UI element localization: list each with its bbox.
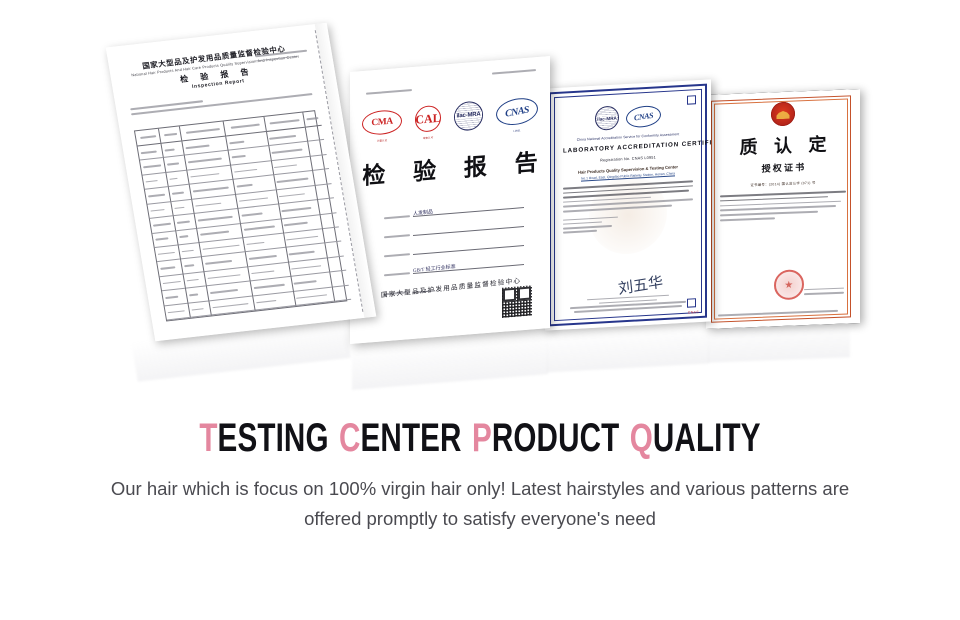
doc3-registration: Registration No. CNAS L0951	[563, 153, 693, 164]
headline-rest: ENTER	[361, 416, 462, 460]
cal-logo: CAL 审查认可	[415, 105, 441, 133]
cnas-label: CNAS	[634, 110, 654, 122]
doc4-title: 质 认 定	[734, 130, 833, 160]
doc2-title: 检 验 报 告	[350, 142, 550, 192]
ilac-mra-logo: ilac-MRA	[454, 100, 483, 131]
doc2-field-value: 人发制品	[413, 199, 524, 217]
doc4-cert-no: 证书编号：(2014) 国认监认字 (071) 号	[750, 180, 815, 188]
headline-rest: ESTING	[218, 416, 329, 460]
headline-word: TESTING	[199, 416, 328, 460]
subtitle-line-1: Our hair which is focus on 100% virgin h…	[111, 478, 849, 499]
doc2-field-row	[384, 219, 524, 238]
headline-cap: Q	[630, 416, 653, 460]
doc2-top-note	[366, 89, 412, 94]
doc4-body	[720, 191, 846, 225]
doc2-field-row	[384, 238, 524, 257]
headline-word: PRODUCT	[472, 416, 619, 460]
headline-word: CENTER	[339, 416, 462, 460]
qr-code	[502, 285, 532, 317]
page-title: TESTINGCENTERPRODUCTQUALITY	[125, 416, 835, 460]
ilac-mra-label: ilac-MRA	[455, 111, 481, 119]
doc2-logo-row: CMA 计量认证 CAL 审查认可 ilac-MRA CNAS L0951	[362, 91, 538, 143]
headline-rest: RODUCT	[492, 416, 619, 460]
headline-cap: P	[472, 416, 492, 460]
cal-caption: 审查认可	[423, 135, 433, 140]
doc2-field-row: GB/T 轻工行业标准	[384, 257, 524, 276]
doc1-table	[134, 110, 347, 321]
cma-caption: 计量认证	[377, 138, 387, 143]
page-subtitle: Our hair which is focus on 100% virgin h…	[30, 474, 930, 534]
doc3-serial: CNAS	[688, 310, 699, 315]
certificate-quality-authorization[interactable]: 质 认 定 授权证书 证书编号：(2014) 国认监认字 (071) 号	[706, 89, 860, 329]
doc2-report-no	[492, 69, 536, 74]
cma-label: CMA	[371, 117, 392, 129]
ilac-mra-label: ilac-MRA	[597, 115, 618, 121]
certificate-banner: 质 认 定 授权证书 证书编号：(2014) 国认监认字 (071) 号	[0, 0, 960, 620]
cal-label: CAL	[415, 110, 440, 127]
doc2-field-value: GB/T 轻工行业标准	[413, 256, 524, 274]
headline-cap: C	[339, 416, 361, 460]
headline-word: QUALITY	[630, 416, 761, 460]
doc3-body	[563, 180, 693, 212]
certificates-stage: 质 认 定 授权证书 证书编号：(2014) 国认监认字 (071) 号	[0, 0, 960, 400]
doc3-issue-info	[563, 212, 693, 233]
cnas-caption: L0951	[513, 129, 520, 133]
doc4-paper: 质 认 定 授权证书 证书编号：(2014) 国认监认字 (071) 号	[706, 89, 860, 329]
doc3-title: LABORATORY ACCREDITATION CERTIFICATE	[563, 140, 693, 154]
doc4-subtitle: 授权证书	[760, 160, 807, 175]
national-emblem-icon	[771, 102, 795, 127]
reflection-doc3	[547, 323, 709, 372]
certificate-inspection-report-table[interactable]: 国家大型品及护发用品质量监督检验中心 National Hair Product…	[106, 23, 377, 341]
cma-logo: CMA 计量认证	[362, 109, 402, 136]
doc3-corner-mark	[687, 95, 696, 105]
certificate-inspection-report-cover[interactable]: CMA 计量认证 CAL 审查认可 ilac-MRA CNAS L0951	[350, 56, 550, 344]
ilac-mra-icon: ilac-MRA	[595, 106, 619, 131]
headline-cap: T	[199, 416, 217, 460]
headline-rest: UALITY	[653, 416, 761, 460]
subtitle-line-2: offered promptly to satisfy everyone's n…	[30, 504, 930, 534]
cnas-logo: CNAS L0951	[496, 97, 538, 126]
certificate-laboratory-accreditation[interactable]: ilac-MRA CNAS China National Accreditati…	[545, 79, 711, 330]
cnas-label: CNAS	[505, 104, 530, 119]
cnas-icon: CNAS	[625, 103, 662, 129]
doc2-field-row: 人发制品	[384, 200, 524, 219]
